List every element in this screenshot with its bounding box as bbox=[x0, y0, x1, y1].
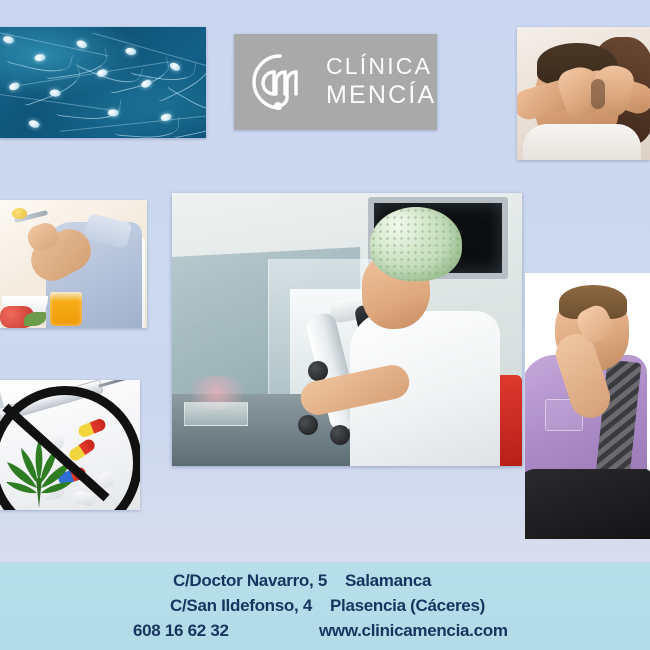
logo-line-1: CLÍNICA bbox=[326, 52, 436, 81]
cereal-bite bbox=[12, 208, 27, 219]
photo-sperm-cells bbox=[0, 27, 206, 138]
poster-canvas: CLÍNICA MENCÍA bbox=[0, 0, 650, 650]
green-surgical-cap bbox=[370, 207, 462, 281]
cm-monogram-stethoscope-icon bbox=[248, 48, 318, 116]
orange-juice-glass bbox=[50, 292, 82, 326]
address-line-1: C/Doctor Navarro, 5 Salamanca bbox=[0, 568, 650, 593]
address-line-2: C/San Ildefonso, 4 Plasencia (Cáceres) bbox=[0, 593, 650, 618]
photo-healthy-breakfast bbox=[0, 200, 147, 328]
photo-no-drugs bbox=[0, 380, 140, 510]
heart-gap bbox=[591, 79, 605, 109]
logo-line-2: MENCÍA bbox=[326, 81, 436, 110]
address-city-2: Plasencia (Cáceres) bbox=[312, 593, 510, 618]
instrument-tray bbox=[184, 402, 248, 426]
address-street-2: C/San Ildefonso, 4 bbox=[140, 593, 312, 618]
website-url[interactable]: www.clinicamencia.com bbox=[305, 618, 549, 643]
photo-couple-heart-hands bbox=[517, 27, 650, 160]
phone-number[interactable]: 608 16 62 32 bbox=[101, 618, 305, 643]
photo-stressed-man bbox=[525, 273, 650, 539]
contact-footer: C/Doctor Navarro, 5 Salamanca C/San Ilde… bbox=[0, 562, 650, 650]
address-city-1: Salamanca bbox=[327, 568, 495, 593]
photo-lab-microscope bbox=[172, 193, 522, 466]
logo-panel: CLÍNICA MENCÍA bbox=[234, 34, 437, 130]
logo-wordmark: CLÍNICA MENCÍA bbox=[326, 52, 436, 110]
address-street-1: C/Doctor Navarro, 5 bbox=[155, 568, 327, 593]
dark-trousers bbox=[525, 469, 650, 539]
contact-line: 608 16 62 32 www.clinicamencia.com bbox=[0, 618, 650, 643]
man-tank-top bbox=[523, 124, 641, 160]
